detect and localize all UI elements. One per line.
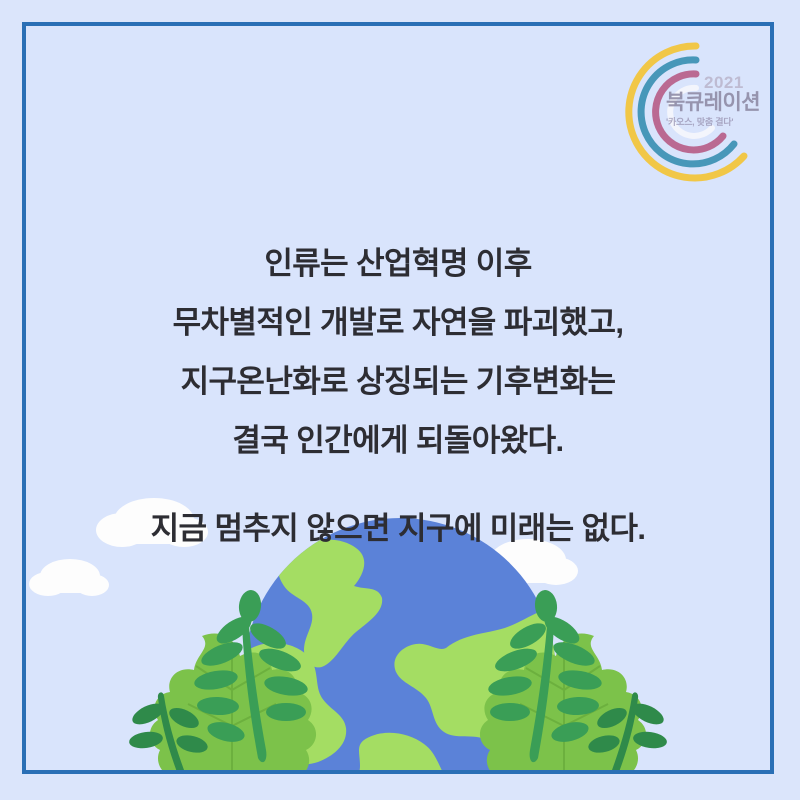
cloud-lower-left (29, 559, 109, 596)
card-stage: 2021 북큐레이션 '카오스, 맞춤 결다' 인류는 산업혁명 이후 무차별적… (26, 26, 770, 770)
message-line-2: 무차별적인 개발로 자연을 파괴했고, (26, 293, 770, 352)
message-block: 인류는 산업혁명 이후 무차별적인 개발로 자연을 파괴했고, 지구온난화로 상… (26, 234, 770, 558)
logo-arc-inner (656, 74, 723, 150)
message-closing-line: 지금 멈추지 않으면 지구에 미래는 없다. (26, 499, 770, 558)
message-line-1: 인류는 산업혁명 이후 (26, 234, 770, 293)
book-curation-logo: 2021 북큐레이션 '카오스, 맞춤 결다' (612, 40, 770, 195)
logo-arc-outer (629, 46, 744, 178)
promo-card: 2021 북큐레이션 '카오스, 맞춤 결다' 인류는 산업혁명 이후 무차별적… (0, 0, 800, 800)
message-line-3: 지구온난화로 상징되는 기후변화는 (26, 352, 770, 411)
logo-arc-innermost (670, 88, 712, 136)
message-line-4: 결국 인간에게 되돌아왔다. (26, 411, 770, 470)
